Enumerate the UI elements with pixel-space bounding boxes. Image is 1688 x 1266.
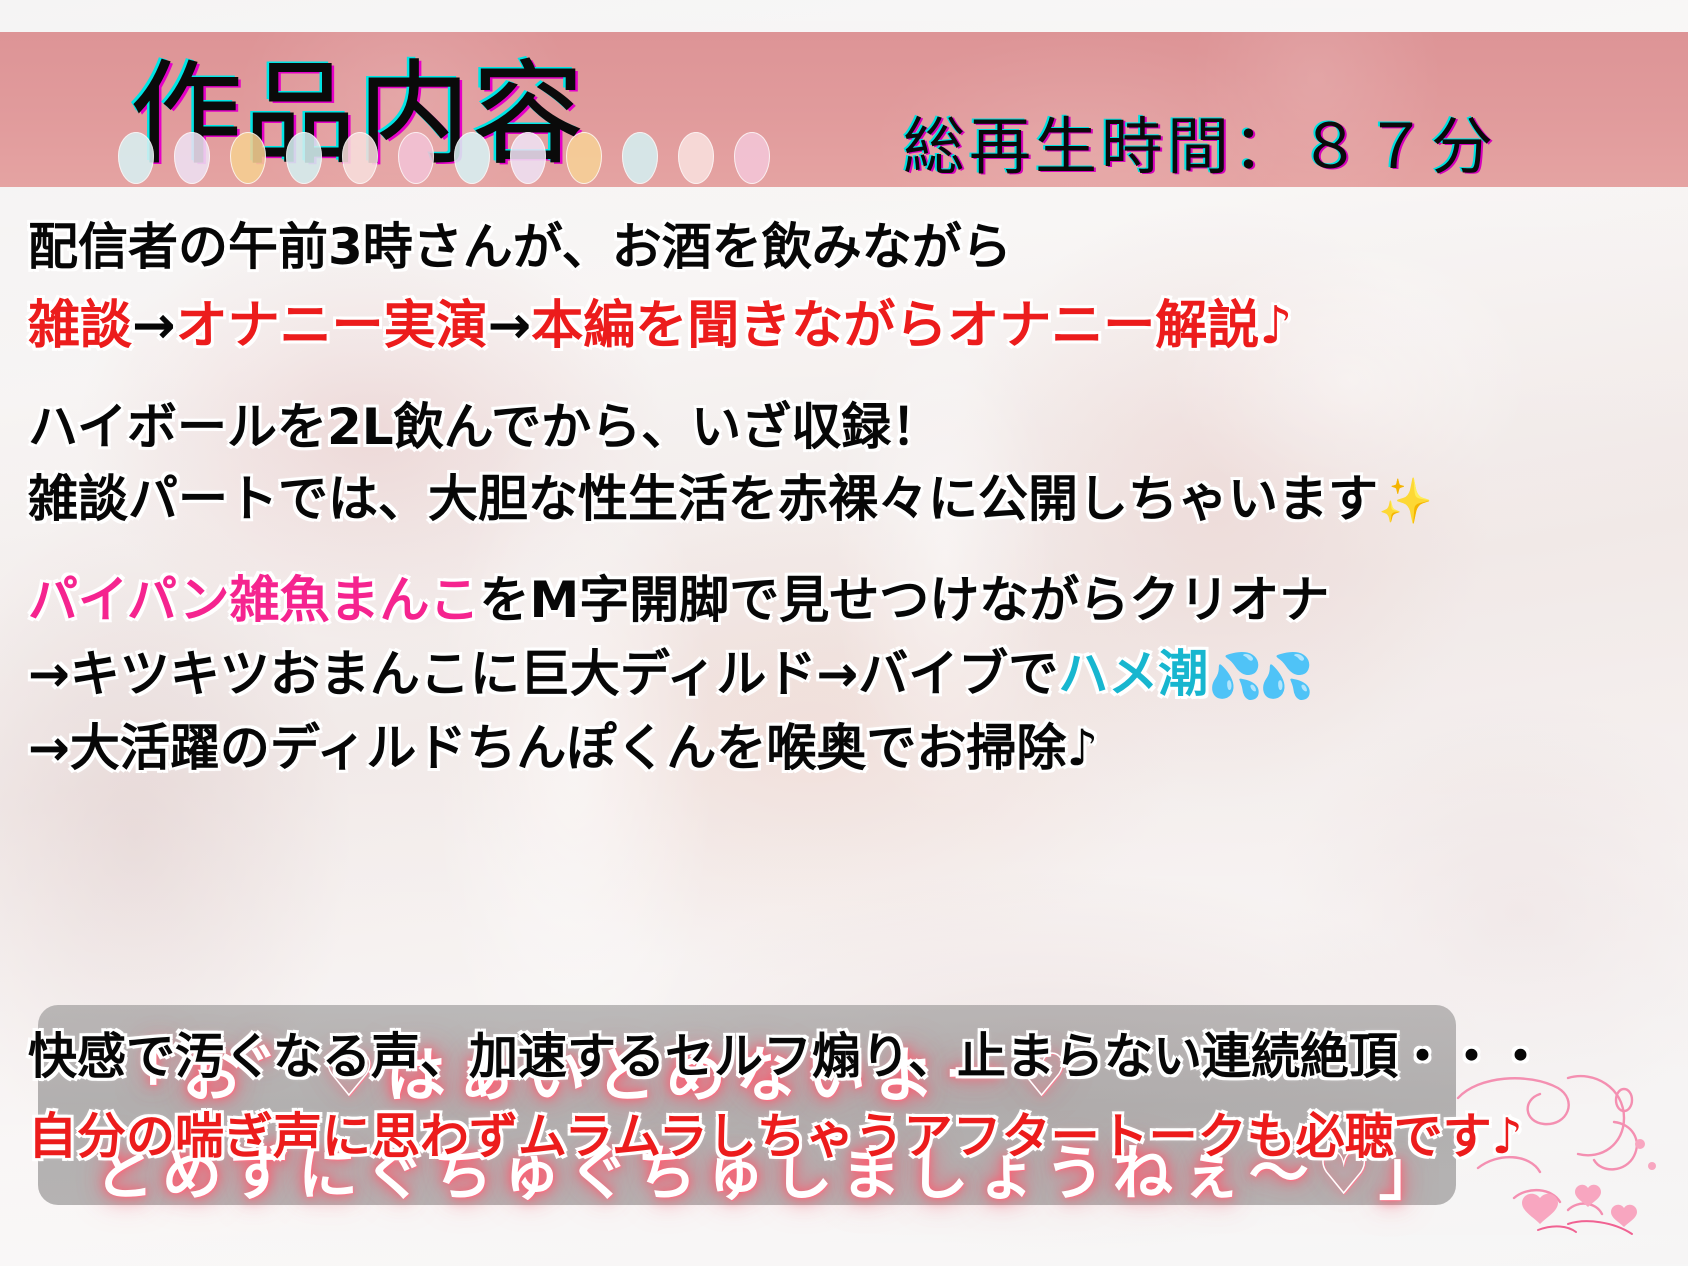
aftertalk-text: 自分の喘ぎ声に思わずムラムラしちゃうアフタートークも必聴です♪ bbox=[28, 1108, 1523, 1165]
bead-icon bbox=[678, 132, 714, 184]
emphasis-squirt-text: ハメ潮 bbox=[1058, 645, 1208, 703]
bead-icon bbox=[510, 132, 546, 184]
bead-icon bbox=[734, 132, 770, 184]
bead-icon bbox=[118, 132, 154, 184]
chat-part-line: 雑談パートでは、大胆な性生活を赤裸々に公開しちゃいます✨ bbox=[28, 474, 1433, 524]
clitoral-line: パイパン雑魚まんこをM字開脚で見せつけながらクリオナ bbox=[28, 575, 1329, 625]
bead-icon bbox=[174, 132, 210, 184]
clitoral-rest-text: をM字開脚で見せつけながらクリオナ bbox=[480, 571, 1330, 629]
pleasure-text: 快感で汚くなる声、加速するセルフ煽り、止まらない連続絶頂・・・ bbox=[28, 1028, 1545, 1085]
bead-icon bbox=[342, 132, 378, 184]
pleasure-line: 快感で汚くなる声、加速するセルフ煽り、止まらない連続絶頂・・・ bbox=[28, 1032, 1545, 1081]
total-duration-label: 総再生時間：８７分 bbox=[903, 96, 1497, 186]
highball-line: ハイボールを2L飲んでから、いざ収録！ bbox=[28, 402, 941, 452]
flow-part-commentary: 本編を聞きながらオナニー解説♪ bbox=[531, 296, 1292, 356]
chat-part-text: 雑談パートでは、大胆な性生活を赤裸々に公開しちゃいます bbox=[28, 470, 1378, 528]
product-description-banner: 作品内容 総再生時間：８７分 配信者の午前3時さんが、お酒を飲みながら 雑談→オ… bbox=[0, 0, 1688, 1266]
dildo-vibe-text: →キツキツおまんこに巨大ディルド→バイブで bbox=[28, 645, 1058, 703]
deepthroat-line: →大活躍のディルドちんぽくんを喉奥でお掃除♪ bbox=[28, 723, 1098, 773]
sweat-droplets-icon: 💦💦 bbox=[1208, 651, 1310, 702]
flow-line: 雑談→オナニー実演→本編を聞きながらオナニー解説♪ bbox=[28, 300, 1292, 352]
sparkles-icon: ✨ bbox=[1378, 476, 1433, 527]
flow-arrow-icon: → bbox=[132, 296, 176, 356]
aftertalk-line: 自分の喘ぎ声に思わずムラムラしちゃうアフタートークも必聴です♪ bbox=[28, 1112, 1523, 1161]
intro-line: 配信者の午前3時さんが、お酒を飲みながら bbox=[28, 222, 1012, 272]
intro-text: 配信者の午前3時さんが、お酒を飲みながら bbox=[28, 218, 1012, 276]
highball-text: ハイボールを2L飲んでから、いざ収録！ bbox=[28, 398, 941, 456]
flow-part-performance: オナニー実演 bbox=[176, 296, 488, 356]
flow-part-chat: 雑談 bbox=[28, 296, 132, 356]
bead-icon bbox=[398, 132, 434, 184]
bead-icon bbox=[454, 132, 490, 184]
bead-decoration bbox=[118, 132, 770, 184]
bead-icon bbox=[286, 132, 322, 184]
bead-icon bbox=[230, 132, 266, 184]
bead-icon bbox=[622, 132, 658, 184]
emphasis-pussy-text: パイパン雑魚まんこ bbox=[28, 571, 480, 629]
bead-icon bbox=[566, 132, 602, 184]
dildo-vibe-line: →キツキツおまんこに巨大ディルド→バイブでハメ潮💦💦 bbox=[28, 649, 1310, 699]
deepthroat-text: →大活躍のディルドちんぽくんを喉奥でお掃除♪ bbox=[28, 719, 1098, 777]
flow-arrow-icon: → bbox=[488, 296, 532, 356]
